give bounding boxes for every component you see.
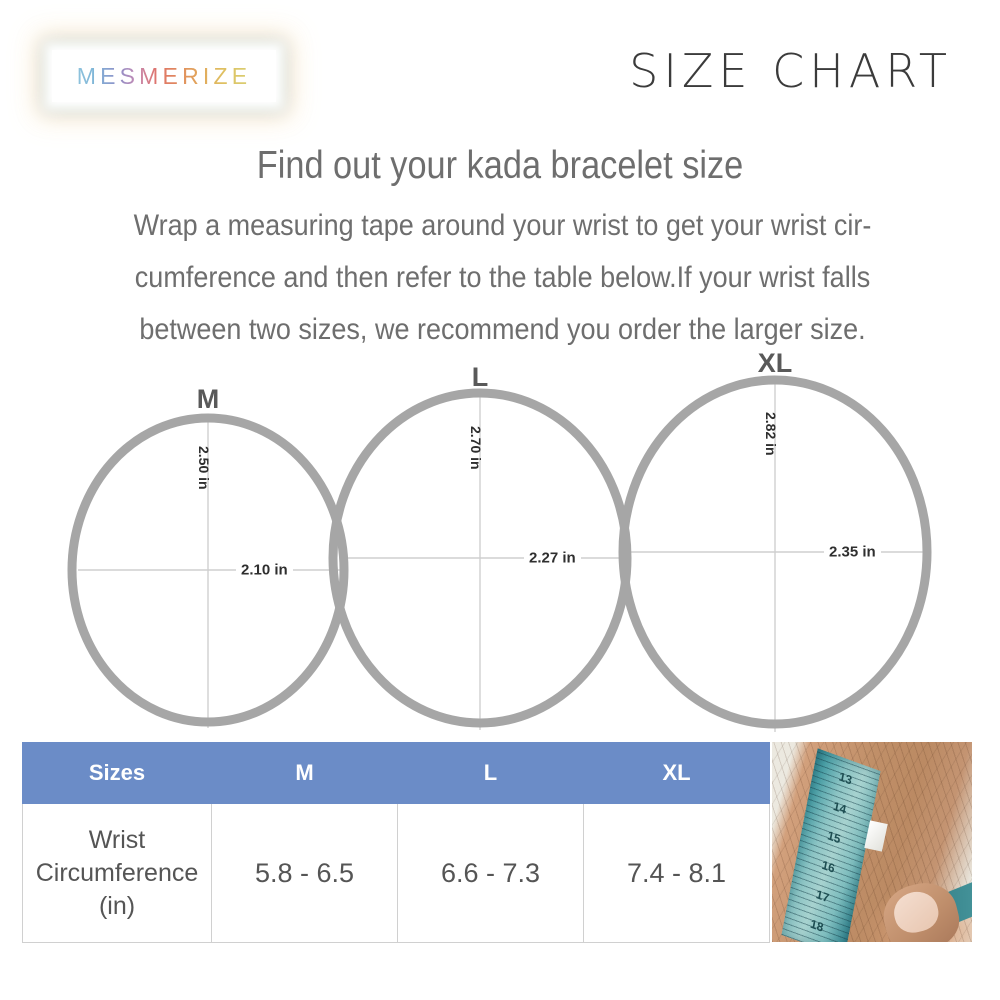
table-header-m: M <box>212 743 398 804</box>
intro-heading: Find out your kada bracelet size <box>60 144 940 188</box>
dimension-height-m: 2.50 in <box>196 446 212 490</box>
row-label-wrist-circumference: Wrist Circumference (in) <box>23 804 212 943</box>
cell-wrist-xl: 7.4 - 8.1 <box>584 804 770 943</box>
bracelet-size-diagram: M L XL 2.50 in 2.70 in 2.82 in 2.10 in 2… <box>0 350 1000 750</box>
dimension-width-xl: 2.35 in <box>824 544 881 561</box>
table-header-row: Sizes M L XL <box>23 743 770 804</box>
intro-paragraph: Wrap a measuring tape around your wrist … <box>95 200 910 356</box>
row-label-line-2: Circumference <box>36 859 199 887</box>
brand-logo-text: MESMERIZE <box>77 63 252 90</box>
cell-wrist-l: 6.6 - 7.3 <box>398 804 584 943</box>
table-header-xl: XL <box>584 743 770 804</box>
row-label-line-1: Wrist <box>89 826 145 854</box>
table-row: Wrist Circumference (in) 5.8 - 6.5 6.6 -… <box>23 804 770 943</box>
dimension-height-xl: 2.82 in <box>763 412 779 456</box>
ellipse-label-l: L <box>472 362 489 393</box>
ellipse-label-xl: XL <box>758 348 793 379</box>
dimension-width-m: 2.10 in <box>236 562 293 579</box>
dimension-height-l: 2.70 in <box>468 426 484 470</box>
dimension-width-l: 2.27 in <box>524 550 581 567</box>
intro-line-2: cumference and then refer to the table b… <box>95 252 910 304</box>
row-label-line-3: (in) <box>99 892 135 920</box>
size-table: Sizes M L XL Wrist Circumference (in) 5.… <box>22 742 770 943</box>
table-header-sizes: Sizes <box>23 743 212 804</box>
page-title: SIZE CHART <box>629 44 952 98</box>
ellipse-label-m: M <box>197 384 220 415</box>
cell-wrist-m: 5.8 - 6.5 <box>212 804 398 943</box>
wrist-measurement-photo: 13 14 15 16 17 18 <box>772 742 972 942</box>
intro-line-1: Wrap a measuring tape around your wrist … <box>95 200 910 252</box>
table-header-l: L <box>398 743 584 804</box>
brand-logo: MESMERIZE <box>52 50 276 102</box>
